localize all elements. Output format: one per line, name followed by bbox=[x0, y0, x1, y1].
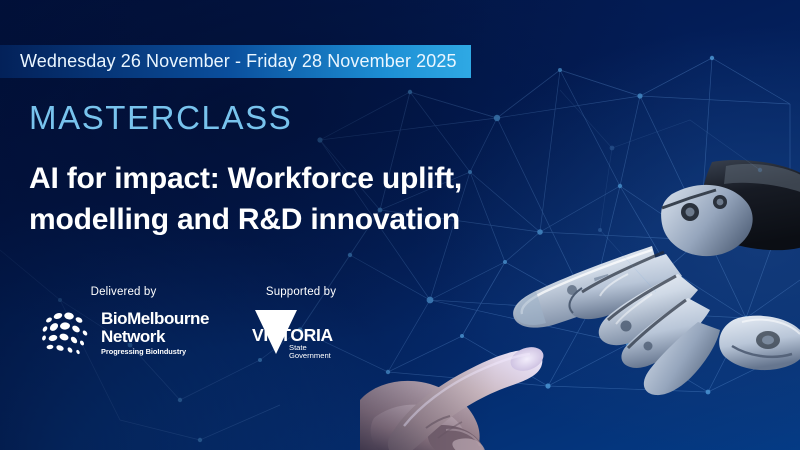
victoria-sub-line-2: Government bbox=[289, 351, 332, 360]
page-title: AI for impact: Workforce uplift, modelli… bbox=[29, 158, 589, 241]
partner-supported-by: Supported by VICTORIA State Government bbox=[231, 286, 371, 362]
biomelbourne-tagline: Progressing BioIndustry bbox=[101, 348, 209, 355]
biomelbourne-name-line-2: Network bbox=[101, 328, 209, 345]
partner-logos: Delivered by bbox=[16, 286, 371, 362]
partner-delivered-by: Delivered by bbox=[16, 286, 231, 358]
biomelbourne-wordmark: BioMelbourne Network Progressing BioIndu… bbox=[101, 310, 209, 356]
page-title-line-1: AI for impact: Workforce uplift, bbox=[29, 158, 589, 199]
page-title-line-2: modelling and R&D innovation bbox=[29, 199, 589, 240]
delivered-by-caption: Delivered by bbox=[91, 286, 157, 298]
biomelbourne-name-line-1: BioMelbourne bbox=[101, 310, 209, 327]
event-date-text: Wednesday 26 November - Friday 28 Novemb… bbox=[20, 51, 457, 72]
event-type-label: MASTERCLASS bbox=[29, 99, 292, 137]
event-date-banner: Wednesday 26 November - Friday 28 Novemb… bbox=[0, 45, 471, 78]
event-poster: Wednesday 26 November - Friday 28 Novemb… bbox=[0, 0, 800, 450]
supported-by-caption: Supported by bbox=[266, 286, 336, 298]
biomelbourne-dots-icon bbox=[38, 308, 94, 358]
victoria-wordmark: VICTORIA bbox=[252, 325, 334, 345]
victoria-state-government-logo[interactable]: VICTORIA State Government bbox=[249, 308, 353, 362]
biomelbourne-network-logo[interactable]: BioMelbourne Network Progressing BioIndu… bbox=[38, 308, 209, 358]
